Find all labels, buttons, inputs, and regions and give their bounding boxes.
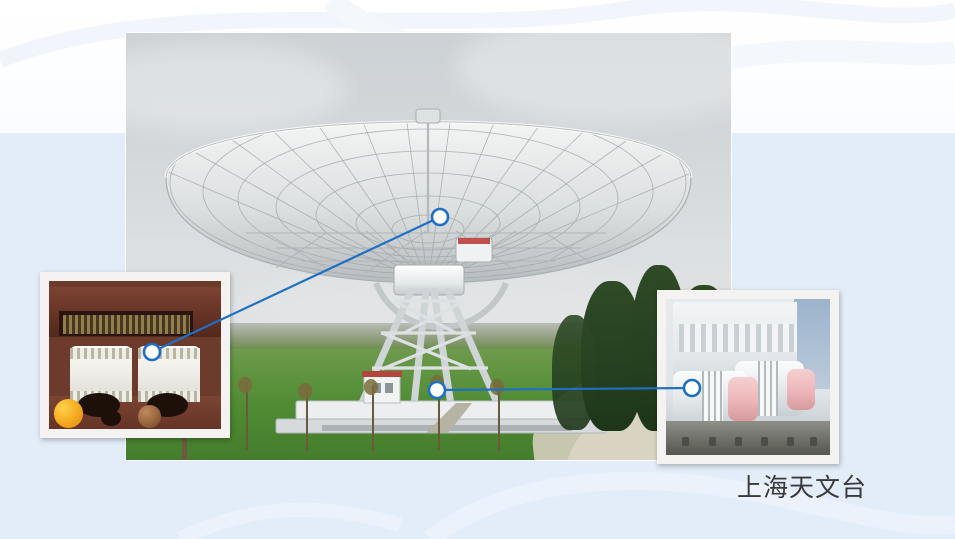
drive-assembly-painted-closeup bbox=[657, 290, 839, 464]
base-bolt bbox=[761, 437, 768, 446]
sapling-foliage bbox=[238, 377, 252, 393]
bolt-ring bbox=[70, 348, 132, 360]
inset-left-image bbox=[49, 281, 221, 429]
base-bolt bbox=[709, 437, 716, 446]
conifer-tree bbox=[552, 315, 596, 430]
pink-end-cap-front bbox=[728, 377, 758, 421]
observatory-caption: 上海天文台 bbox=[737, 468, 867, 504]
sapling-foliage bbox=[490, 379, 504, 395]
gear-teeth bbox=[63, 315, 190, 334]
sapling-foliage bbox=[298, 383, 312, 399]
slide-canvas: 上海天文台 bbox=[0, 0, 955, 539]
sapling bbox=[246, 383, 248, 451]
sapling bbox=[372, 385, 374, 451]
sapling bbox=[498, 385, 500, 451]
sapling bbox=[438, 381, 440, 451]
base-bolt bbox=[735, 437, 742, 446]
worker-head bbox=[138, 405, 160, 427]
bearing-assembly-rusty-closeup bbox=[40, 272, 230, 438]
base-bolt bbox=[810, 437, 817, 446]
sapling-foliage bbox=[364, 379, 378, 395]
pink-end-cap-rear bbox=[787, 369, 815, 410]
flange-ring-rear bbox=[758, 361, 778, 416]
flange-ring-front bbox=[702, 371, 723, 427]
inset-right-image bbox=[666, 299, 830, 455]
base-bolt bbox=[787, 437, 794, 446]
sapling-foliage bbox=[430, 375, 444, 391]
bolt-ring bbox=[138, 348, 200, 360]
orange-sphere bbox=[54, 399, 83, 427]
dark-debris bbox=[101, 410, 122, 426]
cooling-fins bbox=[679, 324, 797, 352]
rail-base bbox=[666, 421, 830, 455]
base-bolt bbox=[682, 437, 689, 446]
